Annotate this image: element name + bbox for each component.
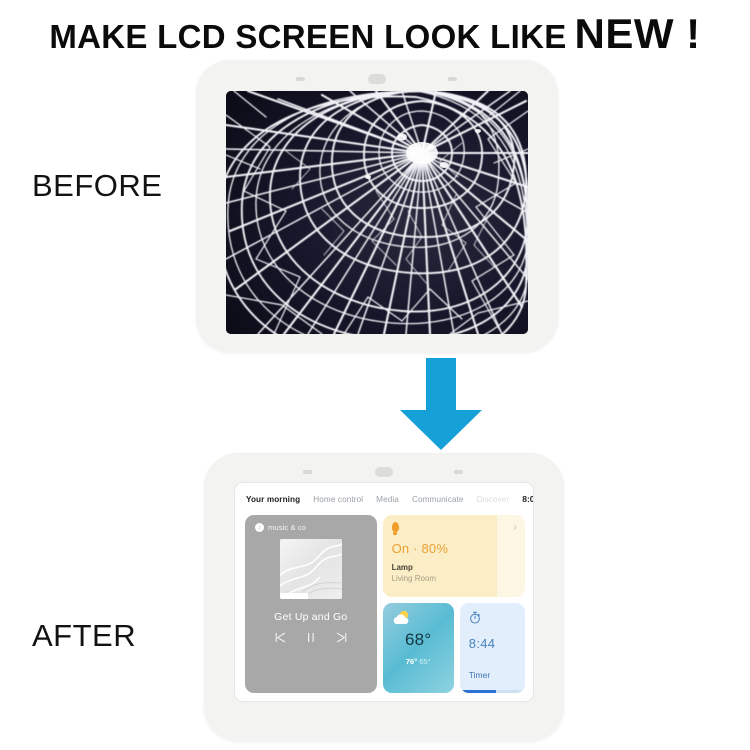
timer-label: Timer	[469, 670, 490, 680]
after-device-shell: Your morning Home control Media Communic…	[204, 453, 564, 741]
stopwatch-icon	[469, 611, 481, 624]
clock: 8:00	[522, 494, 533, 504]
tab-home-control[interactable]: Home control	[313, 495, 363, 504]
weather-card[interactable]: 68° 76°65°	[383, 603, 454, 693]
before-label: BEFORE	[32, 168, 162, 204]
tab-your-morning[interactable]: Your morning	[246, 495, 300, 504]
lamp-name: Lamp	[392, 563, 517, 572]
page-title-main: MAKE LCD SCREEN LOOK LIKE	[49, 18, 566, 55]
weather-low: 65°	[419, 657, 430, 666]
camera-icon	[375, 467, 393, 477]
microphone-dot-right-icon	[448, 77, 457, 81]
right-column: › On · 80% Lamp Living Room	[383, 515, 525, 693]
light-bulb-icon	[392, 522, 399, 532]
album-art-graphic	[280, 539, 342, 599]
before-sensor-row	[196, 74, 558, 86]
timer-card[interactable]: 8:44 Timer	[460, 603, 525, 693]
timer-progress-track	[460, 690, 525, 693]
page-title: MAKE LCD SCREEN LOOK LIKENEW !	[0, 10, 750, 58]
music-brand: ♪ music & co	[255, 523, 306, 532]
timer-progress-bar	[460, 690, 496, 693]
weather-high: 76°	[406, 657, 417, 666]
before-device-shell	[196, 60, 558, 352]
tab-communicate[interactable]: Communicate	[412, 495, 464, 504]
music-brand-label: music & co	[268, 523, 306, 532]
down-arrow-icon	[396, 358, 486, 450]
microphone-dot-left-icon	[296, 77, 305, 81]
track-title: Get Up and Go	[274, 611, 347, 623]
pause-icon[interactable]	[306, 632, 316, 643]
transport-controls	[275, 632, 347, 643]
music-card[interactable]: ♪ music & co	[245, 515, 377, 693]
left-column: ♪ music & co	[245, 515, 377, 693]
weather-temperature: 68°	[405, 630, 431, 650]
cracked-glass-graphic	[226, 91, 528, 334]
lamp-room: Living Room	[392, 574, 517, 583]
lamp-state: On · 80%	[392, 541, 517, 556]
weather-range: 76°65°	[406, 657, 431, 666]
camera-icon	[368, 74, 386, 84]
lamp-card[interactable]: › On · 80% Lamp Living Room	[383, 515, 525, 597]
card-grid: ♪ music & co	[235, 515, 533, 701]
after-sensor-row	[204, 467, 564, 479]
lamp-content: On · 80% Lamp Living Room	[392, 522, 517, 583]
microphone-dot-left-icon	[303, 470, 312, 474]
album-art	[280, 539, 342, 599]
music-note-icon: ♪	[255, 523, 264, 532]
bottom-card-row: 68° 76°65° 8:	[383, 603, 525, 693]
skip-previous-icon[interactable]	[275, 632, 286, 643]
microphone-dot-right-icon	[454, 470, 463, 474]
tab-discover[interactable]: Discover	[477, 495, 510, 504]
skip-next-icon[interactable]	[336, 632, 347, 643]
tab-media[interactable]: Media	[376, 495, 399, 504]
page-title-accent: NEW !	[575, 10, 701, 57]
timer-value: 8:44	[469, 636, 525, 651]
top-nav: Your morning Home control Media Communic…	[235, 483, 533, 515]
after-label: AFTER	[32, 618, 136, 654]
cracked-screen	[226, 91, 528, 334]
partly-cloudy-icon	[391, 610, 413, 625]
working-screen: Your morning Home control Media Communic…	[235, 483, 533, 701]
